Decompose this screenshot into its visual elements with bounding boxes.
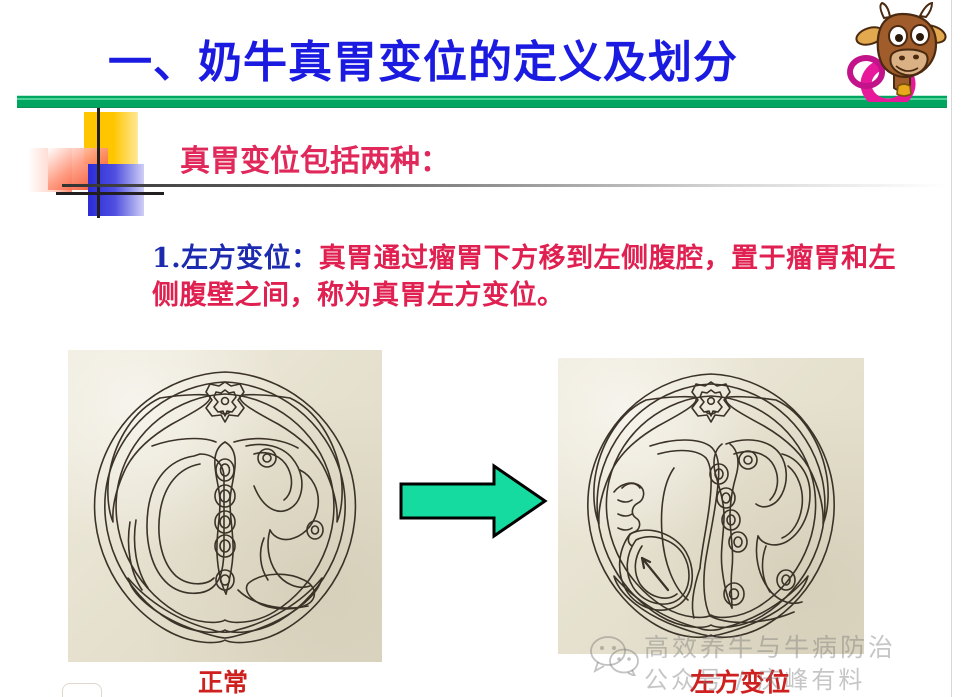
body-paragraph: 1.左方变位：真胃通过瘤胃下方移到左侧腹腔，置于瘤胃和左侧腹壁之间，称为真胃左方…: [152, 240, 912, 314]
title-divider: [17, 95, 947, 108]
figure-normal-caption: 正常: [198, 663, 248, 697]
cartoon-cow-icon: [836, 2, 954, 102]
figure-left-displacement-caption: 左方变位: [690, 663, 790, 697]
figure-left-displacement: [558, 358, 864, 654]
slide-canvas: 一、奶牛真胃变位的定义及划分 真胃变位包括两种： 1.左方变位：真胃通过瘤胃下方…: [0, 0, 964, 697]
slide-right-border: [951, 0, 952, 697]
page-title: 一、奶牛真胃变位的定义及划分: [108, 32, 808, 94]
figure-normal-anatomy-drawing: [68, 350, 382, 662]
transition-arrow: [398, 462, 548, 540]
cartoon-cow-drawing: [836, 2, 954, 102]
deco-line-vertical: [97, 108, 100, 218]
figure-left-displacement-anatomy-drawing: [558, 358, 864, 654]
deco-line-horizontal: [56, 192, 164, 195]
figure-normal: [68, 350, 382, 662]
arrow-right-icon: [398, 462, 548, 540]
corner-squares-decoration: [28, 108, 164, 218]
subtitle-divider: [62, 184, 947, 187]
body-paragraph-lead: 1.左方变位：: [152, 243, 319, 274]
section-subtitle: 真胃变位包括两种：: [180, 140, 450, 184]
bottom-left-artifact: [62, 683, 102, 697]
